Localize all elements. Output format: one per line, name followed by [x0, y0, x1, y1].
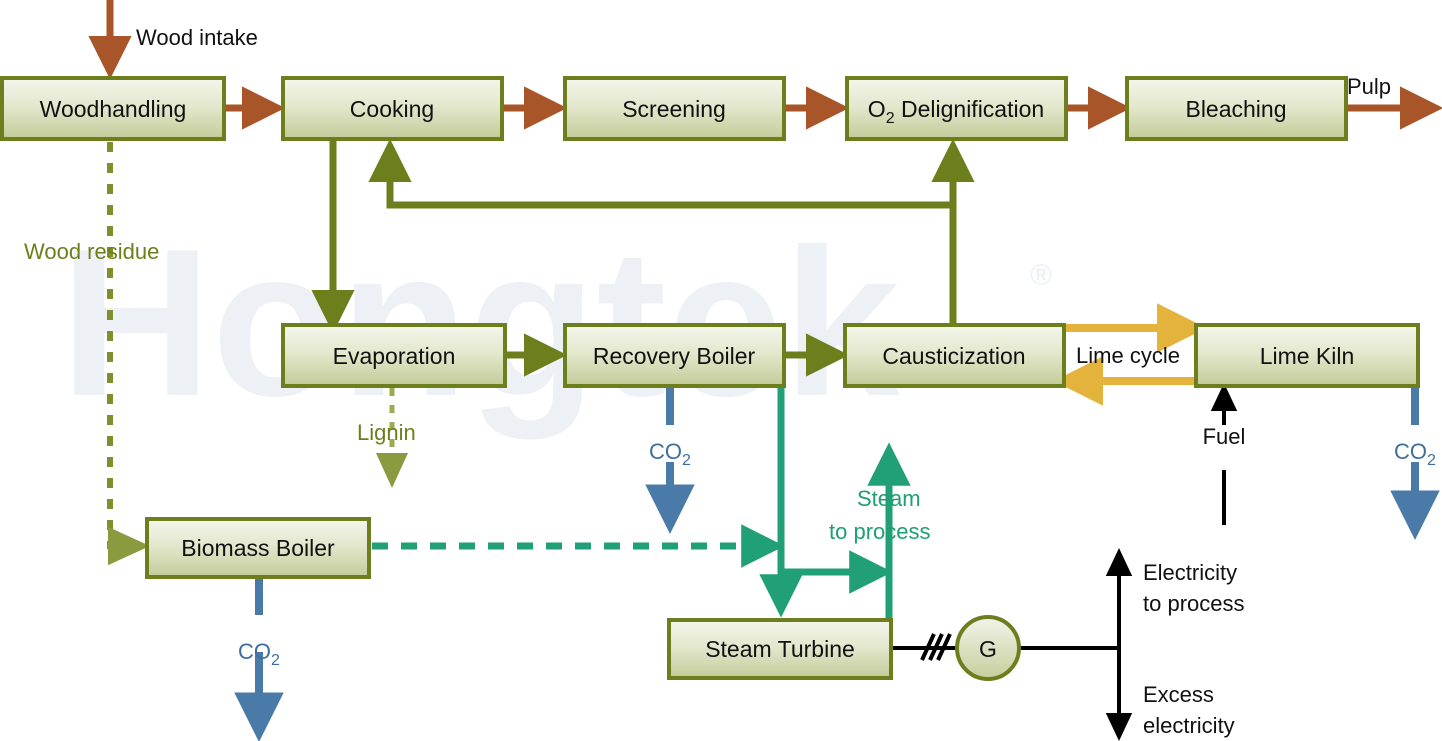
watermark-registered-icon: ® — [1030, 259, 1052, 292]
box-woodhandling-label: Woodhandling — [40, 96, 187, 122]
process-box-lime-kiln[interactable]: Lime Kiln — [1196, 325, 1418, 386]
watermark-text: Hongtek — [60, 205, 900, 440]
process-box-biomass-boiler[interactable]: Biomass Boiler — [147, 519, 369, 577]
box-bleaching-label: Bleaching — [1185, 96, 1286, 122]
label-steam-to-process-line2: to process — [829, 519, 931, 544]
arrow-whiteliquor-cooking — [390, 150, 953, 205]
box-causticization-label: Causticization — [882, 343, 1025, 369]
label-wood-intake: Wood intake — [136, 25, 258, 50]
label-pulp: Pulp — [1347, 74, 1391, 99]
process-box-woodhandling[interactable]: Woodhandling — [2, 78, 224, 139]
label-electricity-to-process-line1: Electricity — [1143, 560, 1237, 585]
process-box-causticization[interactable]: Causticization — [845, 325, 1064, 386]
box-screening-label: Screening — [622, 96, 726, 122]
diagram-canvas: Hongtek ® — [0, 0, 1442, 741]
label-electricity-to-process-line2: to process — [1143, 591, 1245, 616]
label-lignin: Lignin — [357, 420, 416, 445]
box-cooking-label: Cooking — [350, 96, 434, 122]
box-biomass-boiler-label: Biomass Boiler — [181, 535, 335, 561]
label-fuel: Fuel — [1203, 424, 1246, 449]
label-steam-to-process-line1: Steam — [857, 486, 921, 511]
process-box-steam-turbine[interactable]: Steam Turbine — [669, 620, 891, 678]
process-box-evaporation[interactable]: Evaporation — [283, 325, 505, 386]
box-steam-turbine-label: Steam Turbine — [705, 636, 855, 662]
process-box-o2-delignification[interactable]: O2 Delignification — [847, 78, 1066, 139]
label-excess-electricity-line1: Excess — [1143, 682, 1214, 707]
generator[interactable]: G — [957, 617, 1019, 679]
shaft-coupling-icon — [922, 634, 950, 660]
box-evaporation-label: Evaporation — [333, 343, 456, 369]
process-box-screening[interactable]: Screening — [565, 78, 784, 139]
process-box-cooking[interactable]: Cooking — [283, 78, 502, 139]
generator-label: G — [979, 636, 997, 662]
box-recovery-boiler-label: Recovery Boiler — [593, 343, 756, 369]
watermark: Hongtek ® — [60, 205, 1052, 440]
process-box-bleaching[interactable]: Bleaching — [1127, 78, 1346, 139]
label-wood-residue: Wood residue — [24, 239, 159, 264]
process-box-recovery-boiler[interactable]: Recovery Boiler — [565, 325, 784, 386]
box-lime-kiln-label: Lime Kiln — [1260, 343, 1355, 369]
label-lime-cycle: Lime cycle — [1076, 343, 1180, 368]
process-flow-diagram: Hongtek ® — [0, 0, 1442, 741]
label-excess-electricity-line2: electricity — [1143, 713, 1235, 738]
